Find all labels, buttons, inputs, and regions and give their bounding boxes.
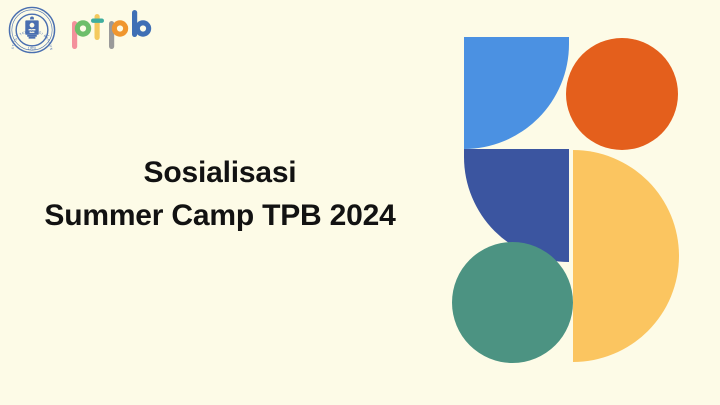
half-circle-yellow-shape: [573, 150, 679, 362]
circle-orange-shape: [566, 38, 678, 150]
slide-title: Sosialisasi Summer Camp TPB 2024: [0, 152, 440, 237]
decorative-shape-composition: [440, 0, 720, 405]
logo-bar: 1920 INSTITUT TEKNOLOGI BANDUNG: [8, 6, 154, 54]
itb-seal-icon: 1920 INSTITUT TEKNOLOGI BANDUNG: [8, 6, 56, 54]
circle-teal-shape: [452, 242, 573, 363]
presentation-slide: 1920 INSTITUT TEKNOLOGI BANDUNG: [0, 0, 720, 405]
quarter-circle-light-blue-shape: [464, 37, 569, 149]
slide-title-line-1: Sosialisasi: [0, 152, 440, 195]
ptpb-logo-icon: [70, 7, 154, 53]
slide-title-line-2: Summer Camp TPB 2024: [0, 195, 440, 238]
